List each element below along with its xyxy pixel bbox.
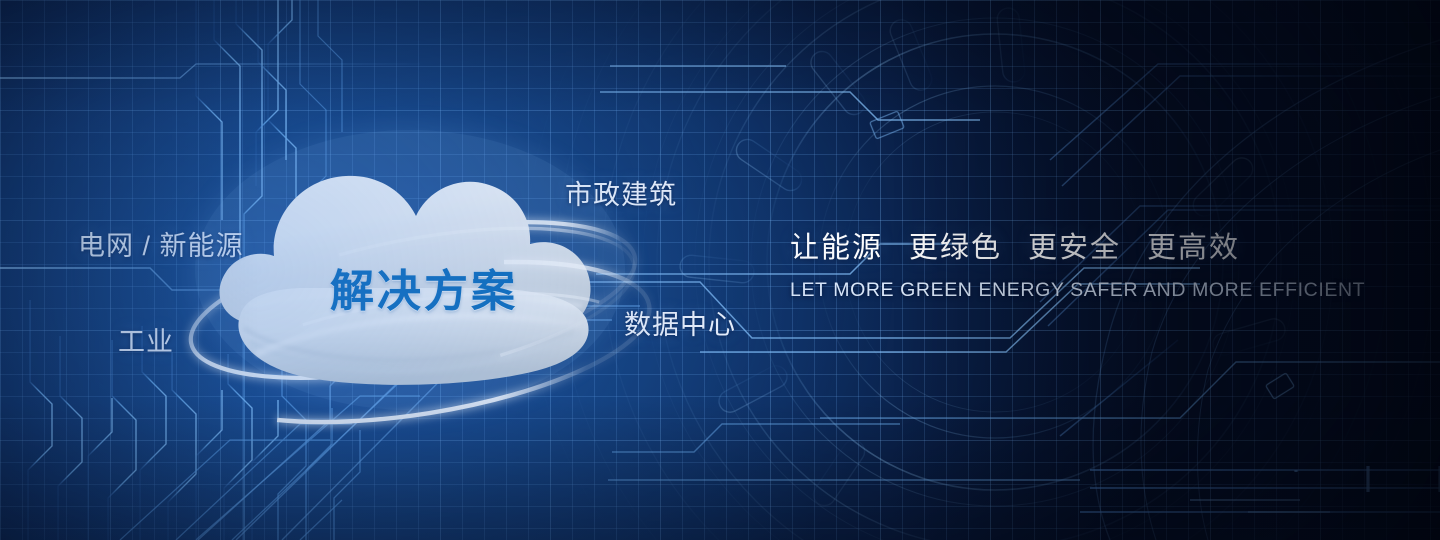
label-grid-new-energy: 电网 / 新能源 [78,224,244,263]
label-data-center: 数据中心 [624,303,736,342]
solution-banner: 电网 / 新能源 工业 市政建筑 数据中心 解决方案 让能源更绿色更安全更高效 … [0,0,1440,540]
cloud-title-solution: 解决方案 [330,255,518,319]
tagline-block: 让能源更绿色更安全更高效 LET MORE GREEN ENERGY SAFER… [790,224,1330,302]
label-municipal-building: 市政建筑 [565,173,677,212]
tagline-part-2: 更绿色 [909,232,1002,264]
tagline-english: LET MORE GREEN ENERGY SAFER AND MORE EFF… [790,279,1330,302]
tagline-part-4: 更高效 [1147,232,1240,264]
tagline-part-3: 更安全 [1028,232,1121,264]
label-industry: 工业 [118,320,174,359]
tagline-part-1: 让能源 [790,232,883,264]
tagline-chinese: 让能源更绿色更安全更高效 [790,224,1330,266]
